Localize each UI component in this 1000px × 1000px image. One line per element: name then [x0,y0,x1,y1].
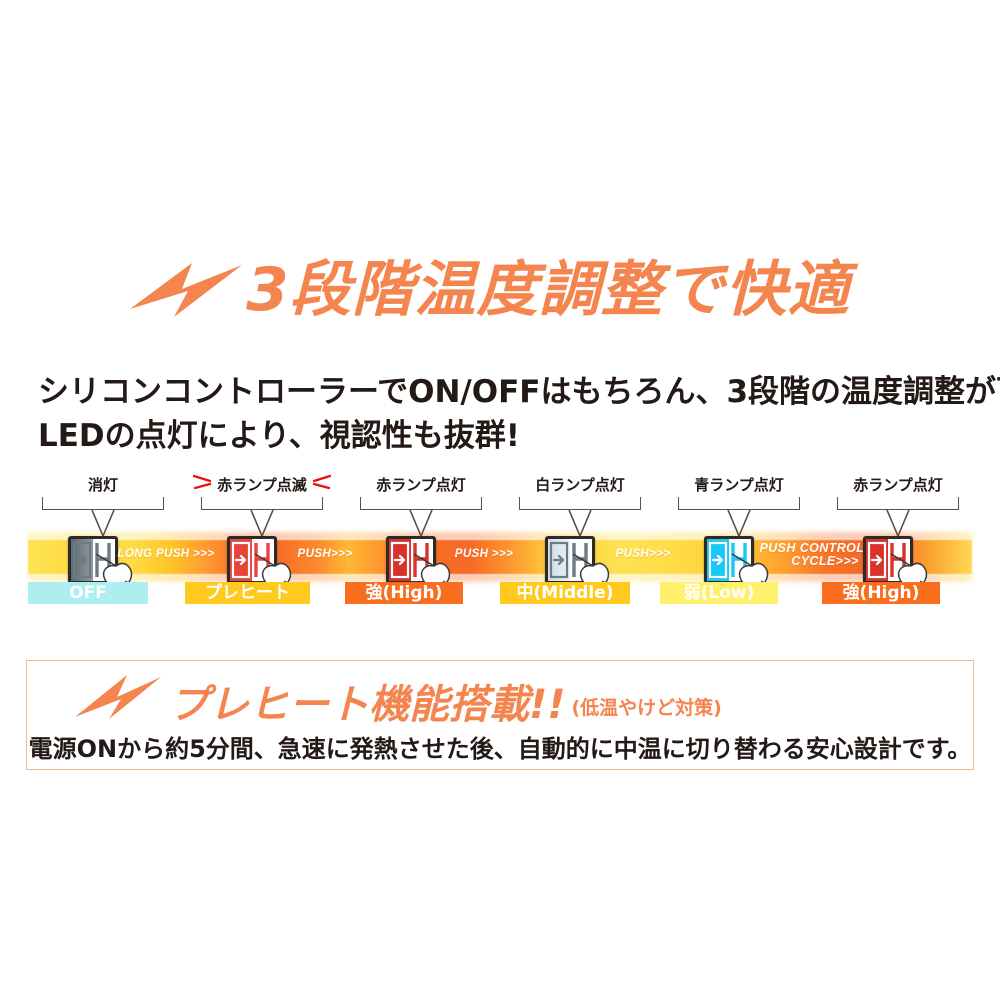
step-caption: 青ランプ点灯 [664,478,814,494]
step-caption-text: 青ランプ点灯 [694,476,784,494]
headline: 3段階温度調整で快適 [130,245,890,335]
step-caption: 赤ランプ点灯 [346,478,496,494]
preheat-feature-panel: プレヒート機能搭載!! (低温やけど対策) 電源ONから約5分間、急速に発熱させ… [26,660,974,770]
lead-line-2: LEDの点灯により、視認性も抜群! [38,416,978,458]
lead-line-1: シリコンコントローラーでON/OFFはもちろん、3段階の温度調整が可能! [38,372,978,414]
step-mode-chip: OFF [28,582,148,604]
step-caption-text: 赤ランプ点灯 [376,476,466,494]
step-bracket [201,497,323,510]
step-bracket [360,497,482,510]
step-caption-text: 消灯 [88,476,118,494]
controller-step: 赤ランプ点灯PUSH >>> [346,478,496,540]
step-caption-text: 白ランプ点灯 [535,476,625,494]
lightning-bolt-icon [130,259,242,321]
controller-step: 赤ランプ点灯 [823,478,973,540]
preheat-panel-body: 電源ONから約5分間、急速に発熱させた後、自動的に中温に切り替わる安心設計です。 [27,729,973,764]
preheat-panel-title: プレヒート機能搭載!! [169,685,565,725]
step-caption-text: 赤ランプ点滅 [217,476,307,494]
step-bracket [678,497,800,510]
step-connector-label: PUSH >>> [424,548,544,560]
step-caption: 赤ランプ点灯 [823,478,973,494]
lead-paragraph: シリコンコントローラーでON/OFFはもちろん、3段階の温度調整が可能! LED… [38,372,978,460]
step-connector-label: LONG PUSH >>> [106,548,226,560]
controller-step: 消灯LONG PUSH >>> [28,478,178,540]
preheat-panel-heading: プレヒート機能搭載!! (低温やけど対策) [75,673,722,725]
step-bracket [837,497,959,510]
controller-step: 赤ランプ点滅PUSH>>> [187,478,337,540]
preheat-panel-subtitle: (低温やけど対策) [571,693,721,720]
step-mode-chip: 強(High) [345,582,463,604]
blink-flash-icon [193,474,215,494]
step-mode-chip: 弱(Low) [660,582,778,604]
step-caption-text: 赤ランプ点灯 [853,476,943,494]
step-bracket [42,497,164,510]
step-mode-chip: 強(High) [822,582,940,604]
headline-text: 3段階温度調整で快適 [246,260,850,320]
lightning-bolt-icon [75,673,161,721]
step-mode-chip: 中(Middle) [500,582,630,604]
step-connector-label: PUSH>>> [265,548,385,560]
step-bracket [519,497,641,510]
step-connector-label: PUSH>>> [583,548,703,560]
step-caption: 消灯 [28,478,178,494]
step-caption: 白ランプ点灯 [505,478,655,494]
infographic-page: 3段階温度調整で快適 シリコンコントローラーでON/OFFはもちろん、3段階の温… [0,0,1000,1000]
step-caption: 赤ランプ点滅 [187,478,337,494]
step-mode-chip: プレヒート [185,582,310,604]
blink-flash-icon [309,474,331,494]
controller-sequence-diagram: 消灯LONG PUSH >>>OFF赤ランプ点滅PUSH>>>プレヒート赤ランプ… [0,478,1000,618]
controller-step: 青ランプ点灯PUSH CONTROLLERCYCLE>>> [664,478,814,540]
controller-step: 白ランプ点灯PUSH>>> [505,478,655,540]
